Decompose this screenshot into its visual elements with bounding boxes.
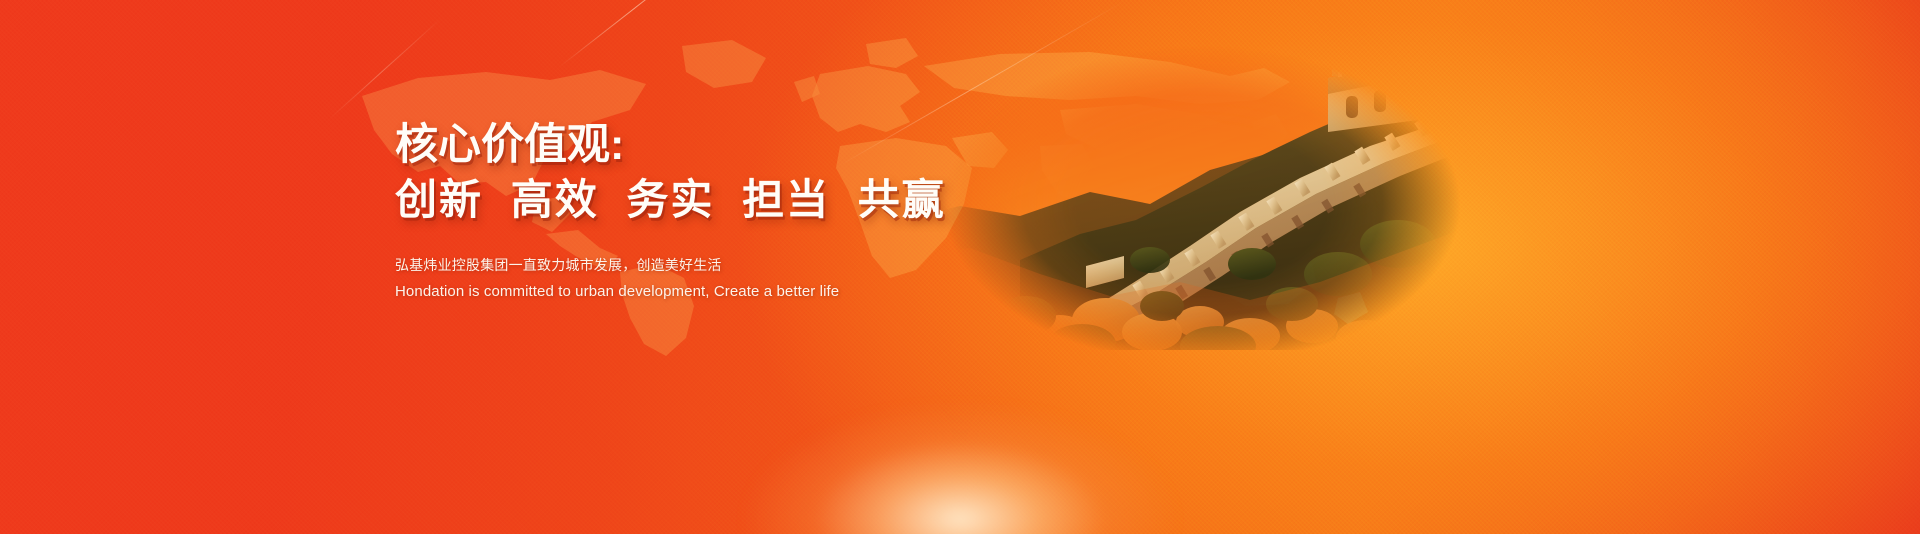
subtitle-chinese: 弘基炜业控股集团一直致力城市发展，创造美好生活	[395, 255, 955, 277]
headline-primary: 核心价值观:	[395, 124, 955, 167]
value-word-5: 共赢	[858, 176, 946, 223]
value-word-1: 创新	[395, 176, 483, 223]
hero-banner: 核心价值观: 创新 高效 务实 担当 共赢 弘基炜业控股集团一直致力城市发展，创…	[0, 0, 1920, 534]
value-word-4: 担当	[742, 176, 830, 223]
great-wall-photo	[900, 20, 1460, 350]
headline-values: 创新 高效 务实 担当 共赢	[395, 179, 955, 221]
value-word-3: 务实	[626, 176, 714, 223]
photo-color-wash	[900, 20, 1460, 350]
subtitle-english: Hondation is committed to urban developm…	[395, 280, 955, 303]
banner-copy: 核心价值观: 创新 高效 务实 担当 共赢 弘基炜业控股集团一直致力城市发展，创…	[395, 124, 955, 303]
value-word-2: 高效	[511, 176, 599, 223]
